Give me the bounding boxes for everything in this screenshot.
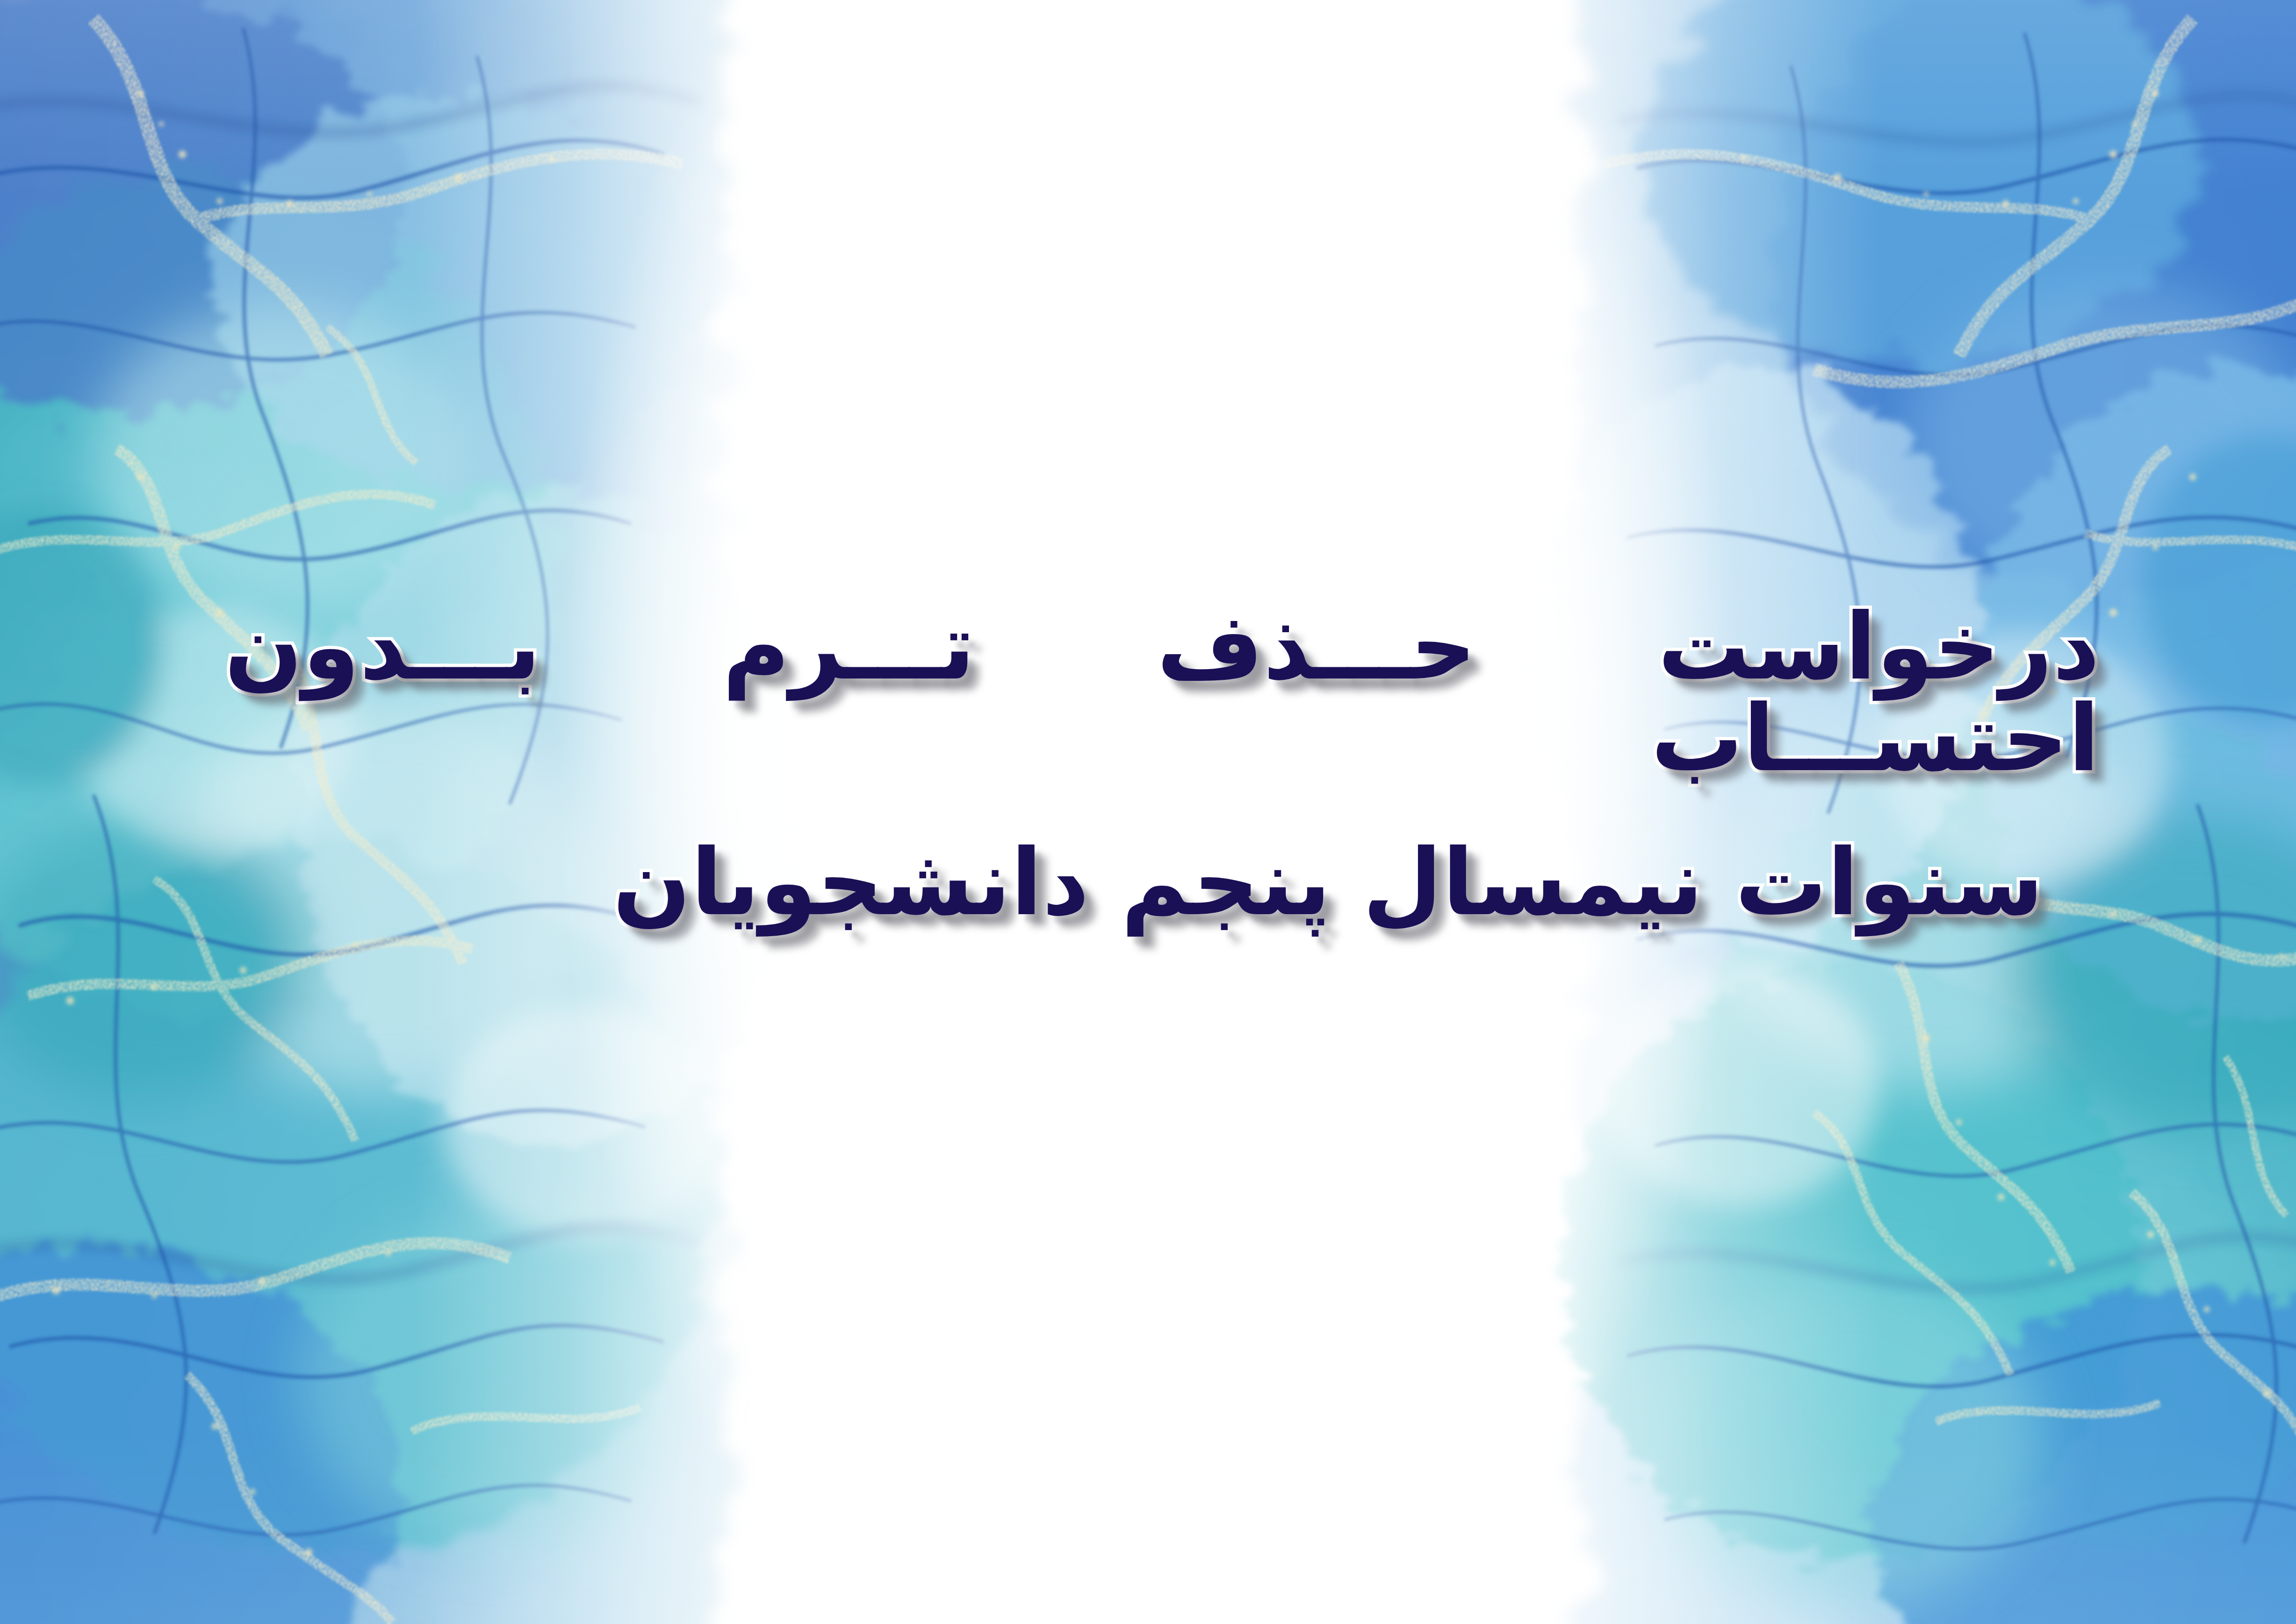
slide-title-block: درخواست حـــذف تـــرم بـــدون احتســـاب … [0, 601, 2296, 928]
title-line-2: سنوات نیمسال پنجم دانشجویان [196, 837, 2100, 928]
title-line-1: درخواست حـــذف تـــرم بـــدون احتســـاب [196, 601, 2100, 784]
slide-canvas: درخواست حـــذف تـــرم بـــدون احتســـاب … [0, 0, 2296, 1624]
